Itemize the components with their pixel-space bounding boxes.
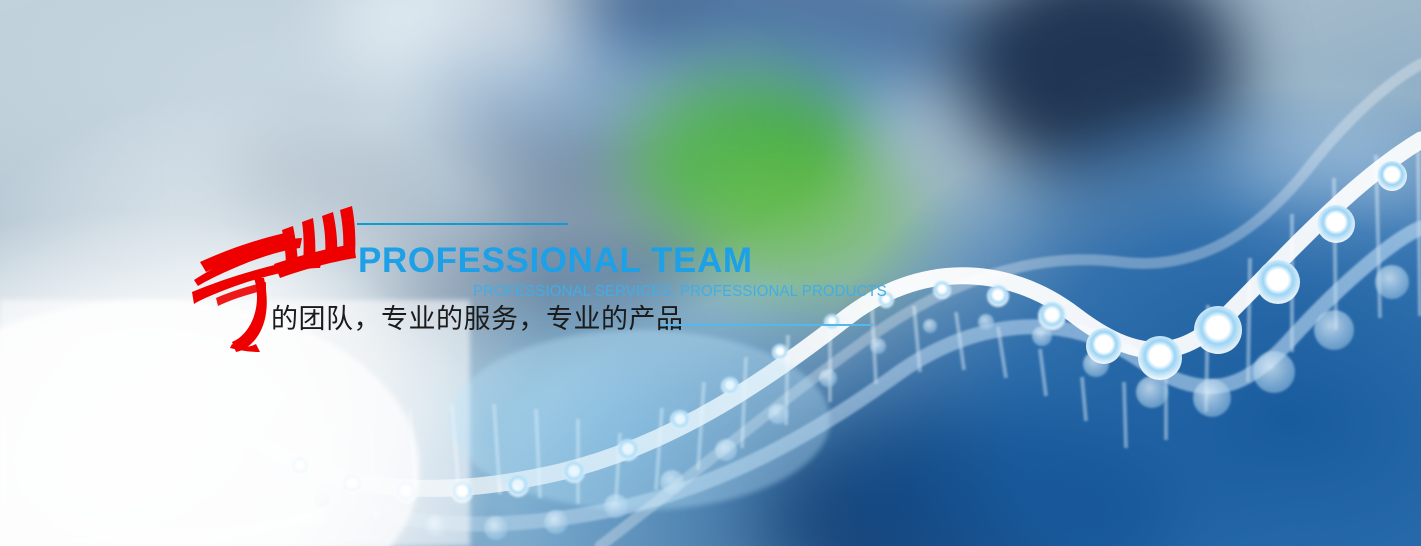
divider-top (357, 223, 568, 225)
page-title: PROFESSIONAL TEAM (358, 243, 753, 278)
chinese-tagline: 的团队，专业的服务，专业的产品 (271, 306, 684, 333)
divider-bottom (662, 324, 873, 326)
page-subtitle: PROFESSIONAL SERVICES, PROFESSIONAL PROD… (473, 284, 887, 300)
hero-banner: PROFESSIONAL TEAM PROFESSIONAL SERVICES,… (0, 0, 1421, 546)
banner-copy-block: PROFESSIONAL TEAM PROFESSIONAL SERVICES,… (0, 0, 1421, 546)
